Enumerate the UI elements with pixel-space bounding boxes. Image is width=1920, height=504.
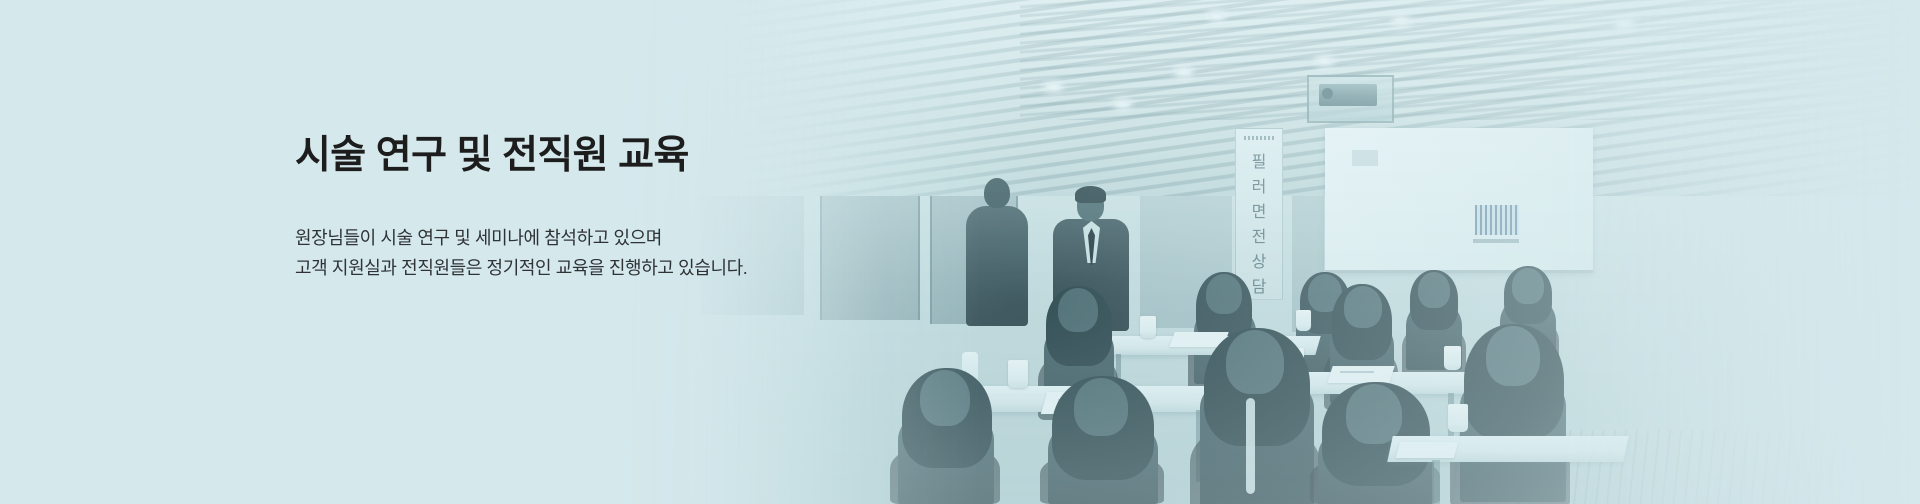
hero-description: 원장님들이 시술 연구 및 세미나에 참석하고 있으며 고객 지원실과 전직원들… [295,223,935,283]
hero-description-line: 고객 지원실과 전직원들은 정기적인 교육을 진행하고 있습니다. [295,253,935,283]
page-title: 시술 연구 및 전직원 교육 [295,133,935,179]
seminar-photo: 필 러 면 전 상 담 [0,0,1920,504]
photo-backdrop: 필 러 면 전 상 담 [0,0,1920,504]
photo-haze-overlay [0,0,1920,504]
hero-banner: 필 러 면 전 상 담 [0,0,1920,504]
hero-text-block: 시술 연구 및 전직원 교육 원장님들이 시술 연구 및 세미나에 참석하고 있… [295,133,935,283]
hero-description-line: 원장님들이 시술 연구 및 세미나에 참석하고 있으며 [295,223,935,253]
